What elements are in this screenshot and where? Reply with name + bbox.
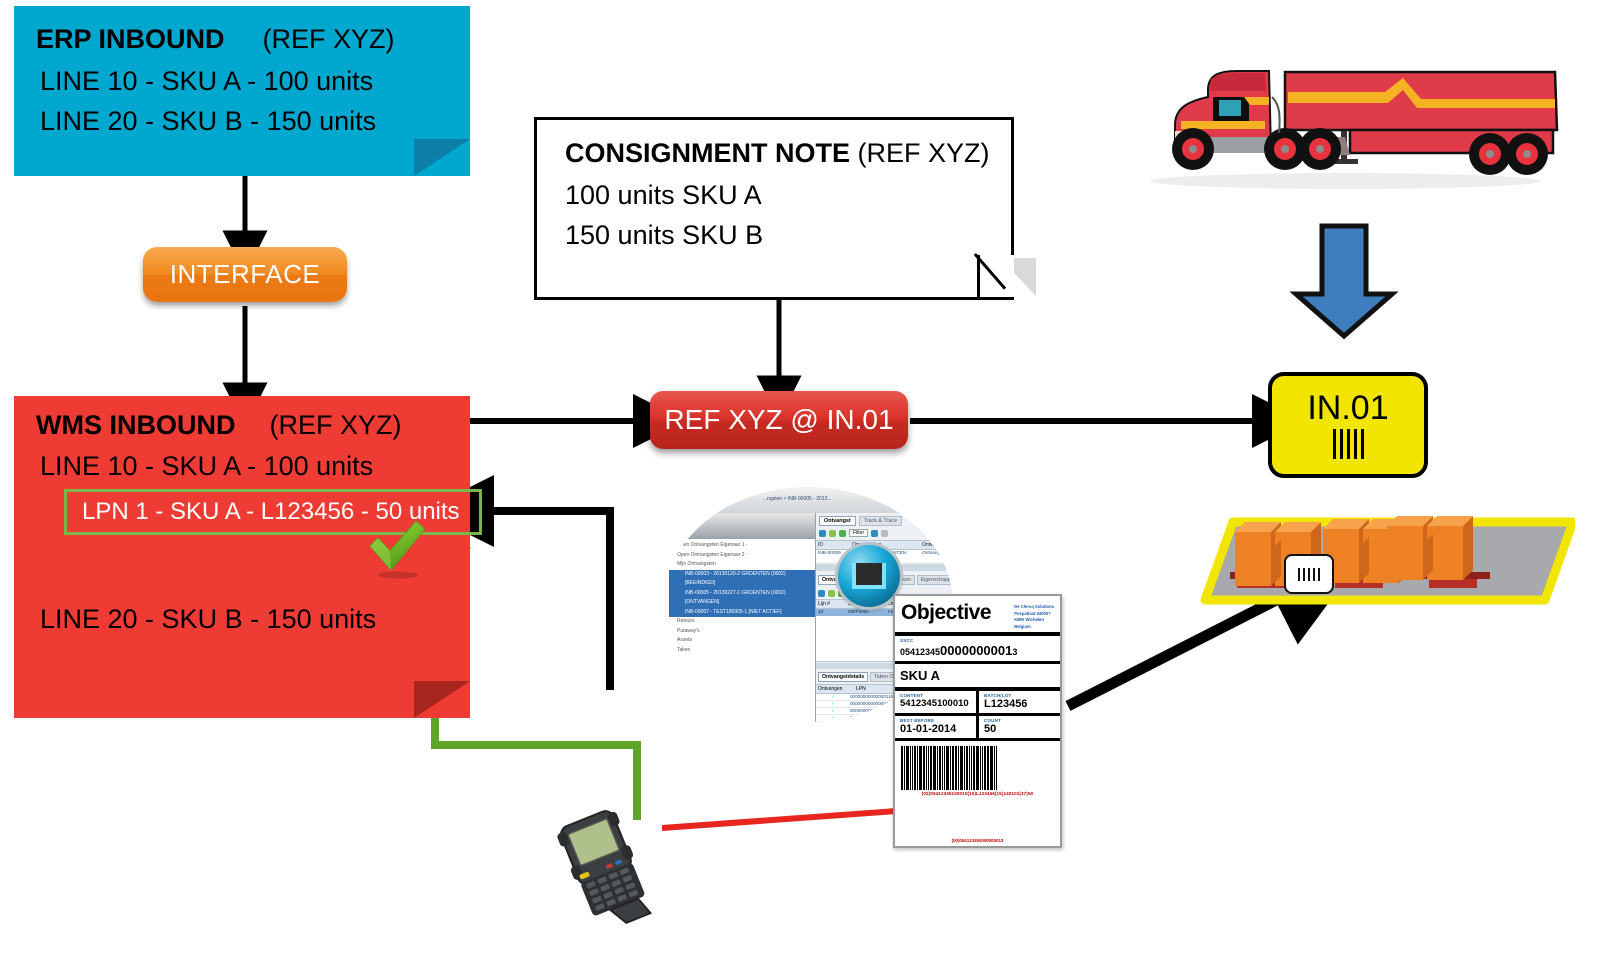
- note-title: CONSIGNMENT NOTE (REF XYZ): [565, 138, 990, 169]
- count-value: 50: [979, 723, 1060, 738]
- interface-button[interactable]: INTERFACE: [143, 247, 347, 302]
- label-count-cell: COUNT 50: [979, 716, 1060, 738]
- wms-grid1-toolbar[interactable]: Filter: [816, 526, 953, 540]
- ref-at-dock-label: REF XYZ @ IN.01: [664, 404, 893, 436]
- wms-title: WMS INBOUND(REF XYZ): [36, 410, 401, 441]
- sscc-value: 0541234500000000013: [895, 643, 1060, 661]
- note-line-1: 100 units SKU A: [565, 180, 762, 211]
- note-title-ref: (REF XYZ): [858, 138, 990, 168]
- label-bestbefore-cell: BEST BEFORE 01-01-2014: [895, 716, 979, 738]
- label-content-row: CONTENT 5412345100010 BATCH/LOT L123456: [895, 691, 1060, 716]
- batchlot-value: L123456: [979, 698, 1060, 713]
- bestbefore-caption: BEST BEFORE: [895, 716, 976, 723]
- cell-ontvang: Ontvangst re.: [920, 550, 953, 562]
- wms-folded-corner: [414, 681, 470, 718]
- refresh-icon[interactable]: [819, 530, 826, 537]
- col-ontvangen: Ontvangen: [816, 685, 854, 693]
- filter-button[interactable]: Filter: [849, 529, 868, 537]
- wms-app-badge-icon: [838, 545, 900, 607]
- label-batchlot-cell: BATCH/LOT L123456: [979, 691, 1060, 713]
- barcode-sscc-text: (00)054123450000000013: [901, 838, 1054, 843]
- badge-tray-glyph: [852, 563, 886, 589]
- edit-icon[interactable]: [871, 530, 878, 537]
- wms-window-titlebar: ...ngsten > INB-00005 - 2013...: [663, 487, 953, 513]
- col-id: ID: [816, 541, 850, 549]
- col-ontvang: Ontvang.: [920, 541, 953, 549]
- note-title-bold: CONSIGNMENT NOTE: [565, 138, 850, 168]
- content-caption: CONTENT: [895, 691, 976, 698]
- dock-barcode-icon: [1333, 429, 1364, 459]
- dock-in01-box[interactable]: IN.01: [1268, 372, 1428, 478]
- bestbefore-value: 01-01-2014: [895, 723, 976, 738]
- handheld-scanner-icon: [548, 808, 666, 926]
- wms-line-20: LINE 20 - SKU B - 150 units: [40, 604, 376, 635]
- blue-down-arrow-icon: [1288, 222, 1400, 340]
- diagram-canvas: ERP INBOUND(REF XYZ) LINE 10 - SKU A - 1…: [0, 0, 1600, 978]
- tab-eigenschappen[interactable]: Eigenschapp.: [917, 575, 953, 585]
- tree-item[interactable]: Retours: [669, 617, 815, 627]
- content-value: 5412345100010: [895, 698, 976, 712]
- pallet-label-tag: [1285, 555, 1333, 593]
- barcode-gs1-128: [901, 746, 1054, 790]
- truck-icon: [1145, 45, 1560, 190]
- tree-item-selected[interactable]: INB-00007 - TEST180305-1 [NIET ACTIEF]: [669, 608, 815, 618]
- tree-item-selected[interactable]: INB-00003 - 20130120-2 GROENTEN (0002) […: [669, 570, 815, 589]
- tree-item[interactable]: Taken: [669, 646, 815, 656]
- interface-label: INTERFACE: [170, 259, 320, 290]
- count-caption: COUNT: [979, 716, 1060, 723]
- wms-window-title: ...ngsten > INB-00005 - 2013...: [763, 496, 832, 502]
- label-bestbefore-row: BEST BEFORE 01-01-2014 COUNT 50: [895, 716, 1060, 741]
- ref-at-dock-pill[interactable]: REF XYZ @ IN.01: [650, 391, 908, 449]
- cell-status: ONTVAN.: [846, 609, 886, 616]
- print-icon[interactable]: [839, 530, 846, 537]
- tab-ontvangst[interactable]: Ontvangst: [819, 516, 856, 526]
- addr-line: Belgium: [1014, 624, 1054, 631]
- wms-title-ref: (REF XYZ): [269, 410, 401, 440]
- sscc-check: 3: [1012, 647, 1017, 657]
- tree-item[interactable]: Open Ontvangsten Eigenaar 1 -: [669, 541, 815, 551]
- more-icon[interactable]: [881, 530, 888, 537]
- consignment-note-box: CONSIGNMENT NOTE (REF XYZ) 100 units SKU…: [534, 117, 1014, 300]
- wms-toolbar-band: [663, 513, 815, 539]
- sscc-main: 0000000001: [940, 643, 1012, 658]
- pallet-icon: [1175, 500, 1575, 625]
- erp-line-20: LINE 20 - SKU B - 150 units: [40, 106, 376, 137]
- sscc-caption: SSCC: [895, 636, 1060, 643]
- wms-tree-panel[interactable]: Open Ontvangsten Eigenaar 1 - Open Ontva…: [667, 541, 815, 716]
- erp-title-ref: (REF XYZ): [263, 24, 395, 54]
- wms-title-bold: WMS INBOUND: [36, 410, 235, 440]
- erp-line-10: LINE 10 - SKU A - 100 units: [40, 66, 373, 97]
- batchlot-caption: BATCH/LOT: [979, 691, 1060, 698]
- label-header: Objective De Clercq Solutions Pospatlaat…: [895, 596, 1060, 636]
- refresh-icon[interactable]: [818, 590, 825, 597]
- tree-item[interactable]: Open Ontvangsten Eigenaar 2 -: [669, 551, 815, 561]
- barcode-gs1-128-text: (02)05412345100010(10)L123456(15)140101(…: [901, 791, 1054, 796]
- green-checkmark-icon: [364, 518, 430, 580]
- arrow-wmsshot-to-lpn: [482, 511, 610, 690]
- barcode-sscc: [901, 799, 1054, 837]
- export-icon[interactable]: [828, 590, 835, 597]
- label-content-cell: CONTENT 5412345100010: [895, 691, 979, 713]
- tree-item[interactable]: Mijn Ontvangsten: [669, 560, 815, 570]
- sscc-prefix: 05412345: [900, 647, 940, 657]
- tree-item[interactable]: Putaway's: [669, 627, 815, 637]
- tree-item[interactable]: Assets: [669, 636, 815, 646]
- erp-folded-corner: [414, 139, 470, 176]
- tab-track-trace[interactable]: Track & Trace: [859, 516, 902, 526]
- label-sscc-block: SSCC 0541234500000000013: [895, 636, 1060, 661]
- erp-inbound-box: ERP INBOUND(REF XYZ) LINE 10 - SKU A - 1…: [14, 6, 470, 176]
- wms-tabrow-1[interactable]: Ontvangst Track & Trace: [816, 513, 953, 526]
- erp-title: ERP INBOUND(REF XYZ): [36, 24, 395, 55]
- tab-ontvangstdetails[interactable]: Ontvangstdetails: [818, 672, 868, 682]
- cell-lijn: 10: [816, 609, 846, 616]
- label-address: De Clercq Solutions Pospatlaat 94000? KB…: [1014, 601, 1054, 630]
- dock-code: IN.01: [1307, 391, 1388, 425]
- label-brand: Objective: [901, 601, 991, 625]
- label-barcodes: (02)05412345100010(10)L123456(15)140101(…: [895, 741, 1060, 843]
- erp-title-bold: ERP INBOUND: [36, 24, 225, 54]
- addr-line: De Clercq Solutions: [1014, 604, 1054, 611]
- note-line-2: 150 units SKU B: [565, 220, 763, 251]
- export-icon[interactable]: [829, 530, 836, 537]
- wms-line-10: LINE 10 - SKU A - 100 units: [40, 451, 373, 482]
- col-lijn: Lijn #: [816, 600, 846, 608]
- tree-item-selected[interactable]: INB-00005 - 20130227-1 GROENTEN (0002) […: [669, 589, 815, 608]
- objective-shipping-label: Objective De Clercq Solutions Pospatlaat…: [893, 594, 1062, 848]
- label-sku: SKU A: [895, 661, 1060, 691]
